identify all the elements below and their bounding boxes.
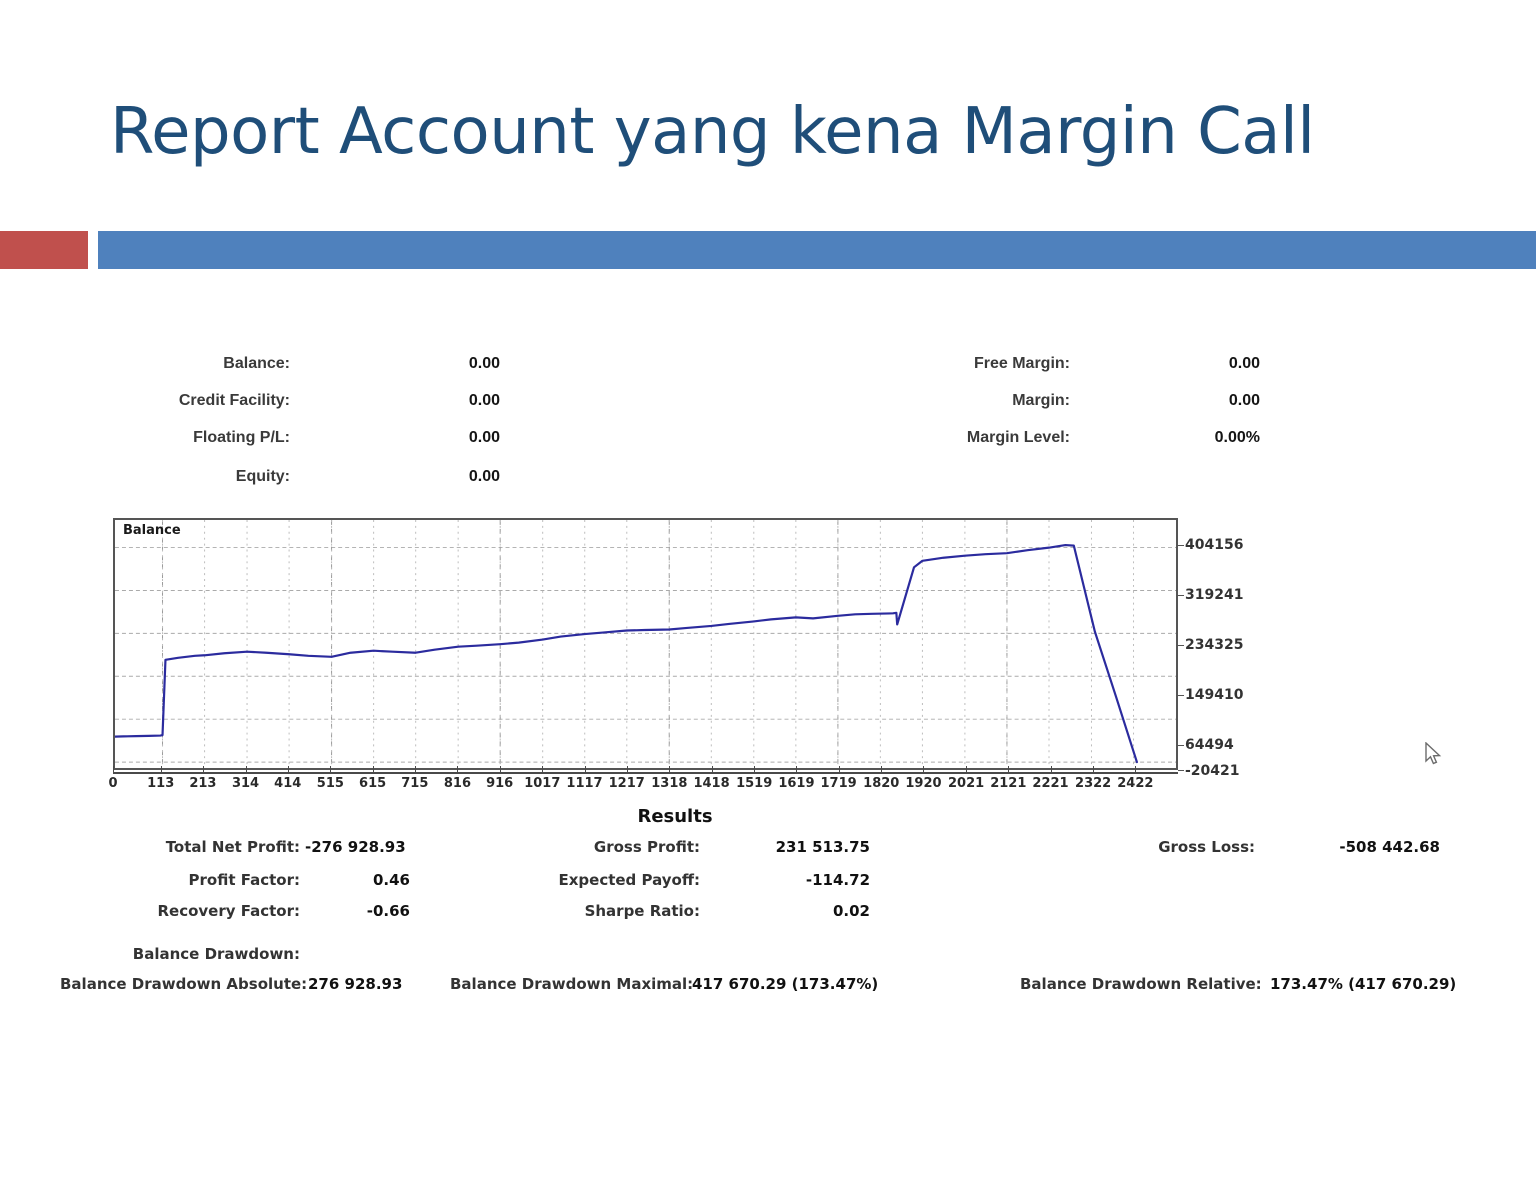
- free-margin-label: Free Margin:: [900, 355, 1070, 373]
- sharpe-ratio-value: 0.02: [740, 902, 870, 920]
- total-net-profit-label: Total Net Profit:: [70, 838, 300, 856]
- xtick-mark-213: [203, 766, 204, 773]
- equity-label: Equity:: [110, 468, 290, 486]
- margin-label: Margin:: [900, 392, 1070, 410]
- xtick-label-1820: 1820: [863, 776, 899, 791]
- xtick-mark-1519: [754, 766, 755, 773]
- xtick-label-916: 916: [486, 776, 513, 791]
- xtick-label-1619: 1619: [778, 776, 814, 791]
- xtick-label-1920: 1920: [905, 776, 941, 791]
- xtick-mark-113: [161, 766, 162, 773]
- expected-payoff-value: -114.72: [740, 871, 870, 889]
- balance-drawdown-relative-label: Balance Drawdown Relative:: [1020, 975, 1260, 993]
- xtick-label-0: 0: [108, 776, 117, 791]
- xtick-mark-1318: [669, 766, 670, 773]
- xtick-mark-515: [330, 766, 331, 773]
- credit-facility-label: Credit Facility:: [110, 392, 290, 410]
- chart-gridlines-minor: [163, 520, 1134, 768]
- xtick-label-2121: 2121: [990, 776, 1026, 791]
- balance-drawdown-maximal-value: 417 670.29 (173.47%): [692, 975, 878, 993]
- balance-value: 0.00: [400, 355, 500, 373]
- floating-pl-label: Floating P/L:: [110, 429, 290, 447]
- xtick-mark-1117: [585, 766, 586, 773]
- xtick-mark-916: [500, 766, 501, 773]
- expected-payoff-label: Expected Payoff:: [480, 871, 700, 889]
- ytick-label-64494: 64494: [1185, 737, 1234, 753]
- xtick-label-113: 113: [147, 776, 174, 791]
- margin-level-value: 0.00%: [1147, 429, 1260, 447]
- ytick-mark-0: [1178, 545, 1184, 546]
- xtick-label-414: 414: [274, 776, 301, 791]
- balance-line-series: [115, 545, 1137, 762]
- gross-profit-value: 231 513.75: [740, 838, 870, 856]
- balance-drawdown-absolute-value: 276 928.93: [308, 975, 402, 993]
- xtick-label-2221: 2221: [1032, 776, 1068, 791]
- margin-value: 0.00: [1160, 392, 1260, 410]
- xtick-mark-816: [457, 766, 458, 773]
- xtick-label-1217: 1217: [609, 776, 645, 791]
- balance-drawdown-heading: Balance Drawdown:: [60, 945, 300, 963]
- xtick-mark-2221: [1051, 766, 1052, 773]
- xtick-label-1719: 1719: [821, 776, 857, 791]
- xtick-mark-2021: [966, 766, 967, 773]
- xtick-mark-414: [288, 766, 289, 773]
- chart-gridlines-major: [115, 520, 1176, 768]
- xtick-mark-2422: [1135, 766, 1136, 773]
- ytick-mark-4: [1178, 745, 1184, 746]
- ytick-label-149410: 149410: [1185, 687, 1243, 703]
- recovery-factor-value: -0.66: [305, 902, 410, 920]
- free-margin-value: 0.00: [1160, 355, 1260, 373]
- balance-drawdown-maximal-label: Balance Drawdown Maximal:: [450, 975, 685, 993]
- xtick-label-1418: 1418: [693, 776, 729, 791]
- accent-bar-blue: [98, 231, 1536, 269]
- ytick-mark-2: [1178, 645, 1184, 646]
- xtick-mark-1418: [712, 766, 713, 773]
- balance-chart-svg: [115, 520, 1176, 768]
- xtick-mark-615: [373, 766, 374, 773]
- ytick-mark-5: [1178, 770, 1184, 771]
- xtick-label-515: 515: [317, 776, 344, 791]
- xtick-mark-1719: [839, 766, 840, 773]
- xtick-label-615: 615: [359, 776, 386, 791]
- xtick-mark-0: [113, 766, 114, 773]
- xtick-label-314: 314: [232, 776, 259, 791]
- xtick-mark-2322: [1093, 766, 1094, 773]
- accent-bar-red: [0, 231, 88, 269]
- balance-label: Balance:: [110, 355, 290, 373]
- xtick-mark-1619: [796, 766, 797, 773]
- ytick-label--20421: -20421: [1185, 763, 1240, 779]
- xtick-mark-2121: [1008, 766, 1009, 773]
- xtick-mark-1820: [881, 766, 882, 773]
- xtick-mark-1017: [542, 766, 543, 773]
- xtick-label-213: 213: [189, 776, 216, 791]
- xtick-mark-314: [246, 766, 247, 773]
- xtick-mark-1217: [627, 766, 628, 773]
- xtick-label-1017: 1017: [524, 776, 560, 791]
- balance-drawdown-relative-value: 173.47% (417 670.29): [1270, 975, 1456, 993]
- xtick-mark-715: [415, 766, 416, 773]
- gross-profit-label: Gross Profit:: [480, 838, 700, 856]
- gross-loss-label: Gross Loss:: [1070, 838, 1255, 856]
- page-title: Report Account yang kena Margin Call: [110, 95, 1490, 169]
- xtick-label-2021: 2021: [948, 776, 984, 791]
- sharpe-ratio-label: Sharpe Ratio:: [480, 902, 700, 920]
- xtick-label-816: 816: [444, 776, 471, 791]
- ytick-label-234325: 234325: [1185, 637, 1243, 653]
- xtick-label-715: 715: [401, 776, 428, 791]
- total-net-profit-value: -276 928.93: [305, 838, 410, 856]
- ytick-label-404156: 404156: [1185, 537, 1243, 553]
- xtick-label-1519: 1519: [736, 776, 772, 791]
- xtick-label-1318: 1318: [651, 776, 687, 791]
- balance-drawdown-absolute-label: Balance Drawdown Absolute:: [60, 975, 300, 993]
- chart-x-axis: [113, 772, 1178, 774]
- results-heading: Results: [0, 806, 1350, 827]
- xtick-label-1117: 1117: [566, 776, 602, 791]
- mouse-cursor-icon: [1424, 742, 1444, 768]
- gross-loss-value: -508 442.68: [1300, 838, 1440, 856]
- credit-facility-value: 0.00: [400, 392, 500, 410]
- xtick-label-2322: 2322: [1075, 776, 1111, 791]
- xtick-mark-1920: [923, 766, 924, 773]
- balance-chart: Balance: [113, 518, 1178, 770]
- floating-pl-value: 0.00: [400, 429, 500, 447]
- equity-value: 0.00: [400, 468, 500, 486]
- recovery-factor-label: Recovery Factor:: [70, 902, 300, 920]
- margin-level-label: Margin Level:: [900, 429, 1070, 447]
- ytick-mark-3: [1178, 695, 1184, 696]
- xtick-label-2422: 2422: [1117, 776, 1153, 791]
- profit-factor-value: 0.46: [305, 871, 410, 889]
- ytick-mark-1: [1178, 595, 1184, 596]
- report-screenshot: Balance: 0.00 Credit Facility: 0.00 Floa…: [0, 300, 1536, 1040]
- ytick-label-319241: 319241: [1185, 587, 1243, 603]
- profit-factor-label: Profit Factor:: [70, 871, 300, 889]
- chart-series-label: Balance: [123, 523, 181, 538]
